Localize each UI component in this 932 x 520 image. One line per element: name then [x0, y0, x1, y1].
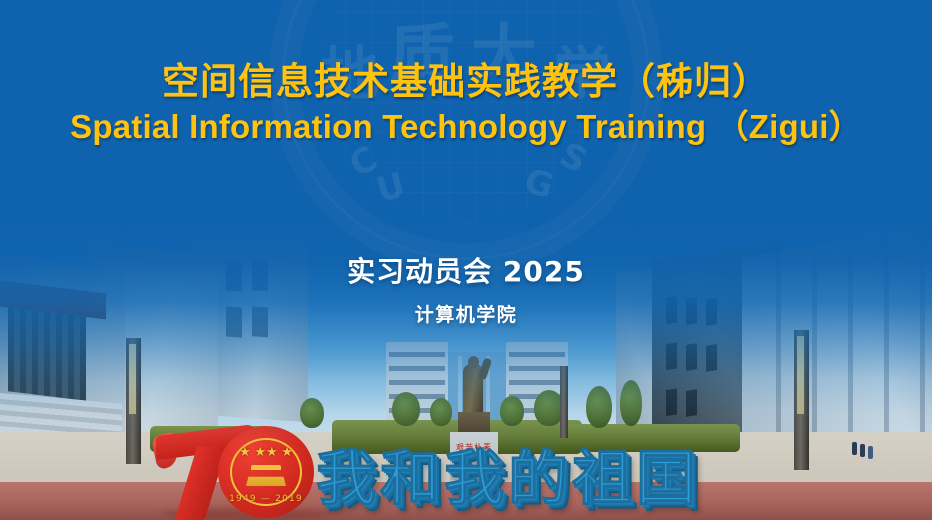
title-chinese: 空间信息技术基础实践教学（秭归） [0, 60, 932, 104]
title-block: 空间信息技术基础实践教学（秭归） Spatial Information Tec… [0, 60, 932, 147]
subtitle-event: 实习动员会 2025 [0, 250, 932, 290]
title-english: Spatial Information Technology Training … [0, 108, 932, 147]
subtitle-department: 计算机学院 [0, 300, 932, 327]
watermark-glyph-6: U [373, 168, 409, 208]
presentation-slide: 艰苦朴素 ★ ★★ ★ 1949 — 2019 [0, 0, 932, 520]
subtitle-block: 实习动员会 2025 计算机学院 [0, 250, 932, 327]
watermark-glyph-7: G [521, 164, 557, 204]
